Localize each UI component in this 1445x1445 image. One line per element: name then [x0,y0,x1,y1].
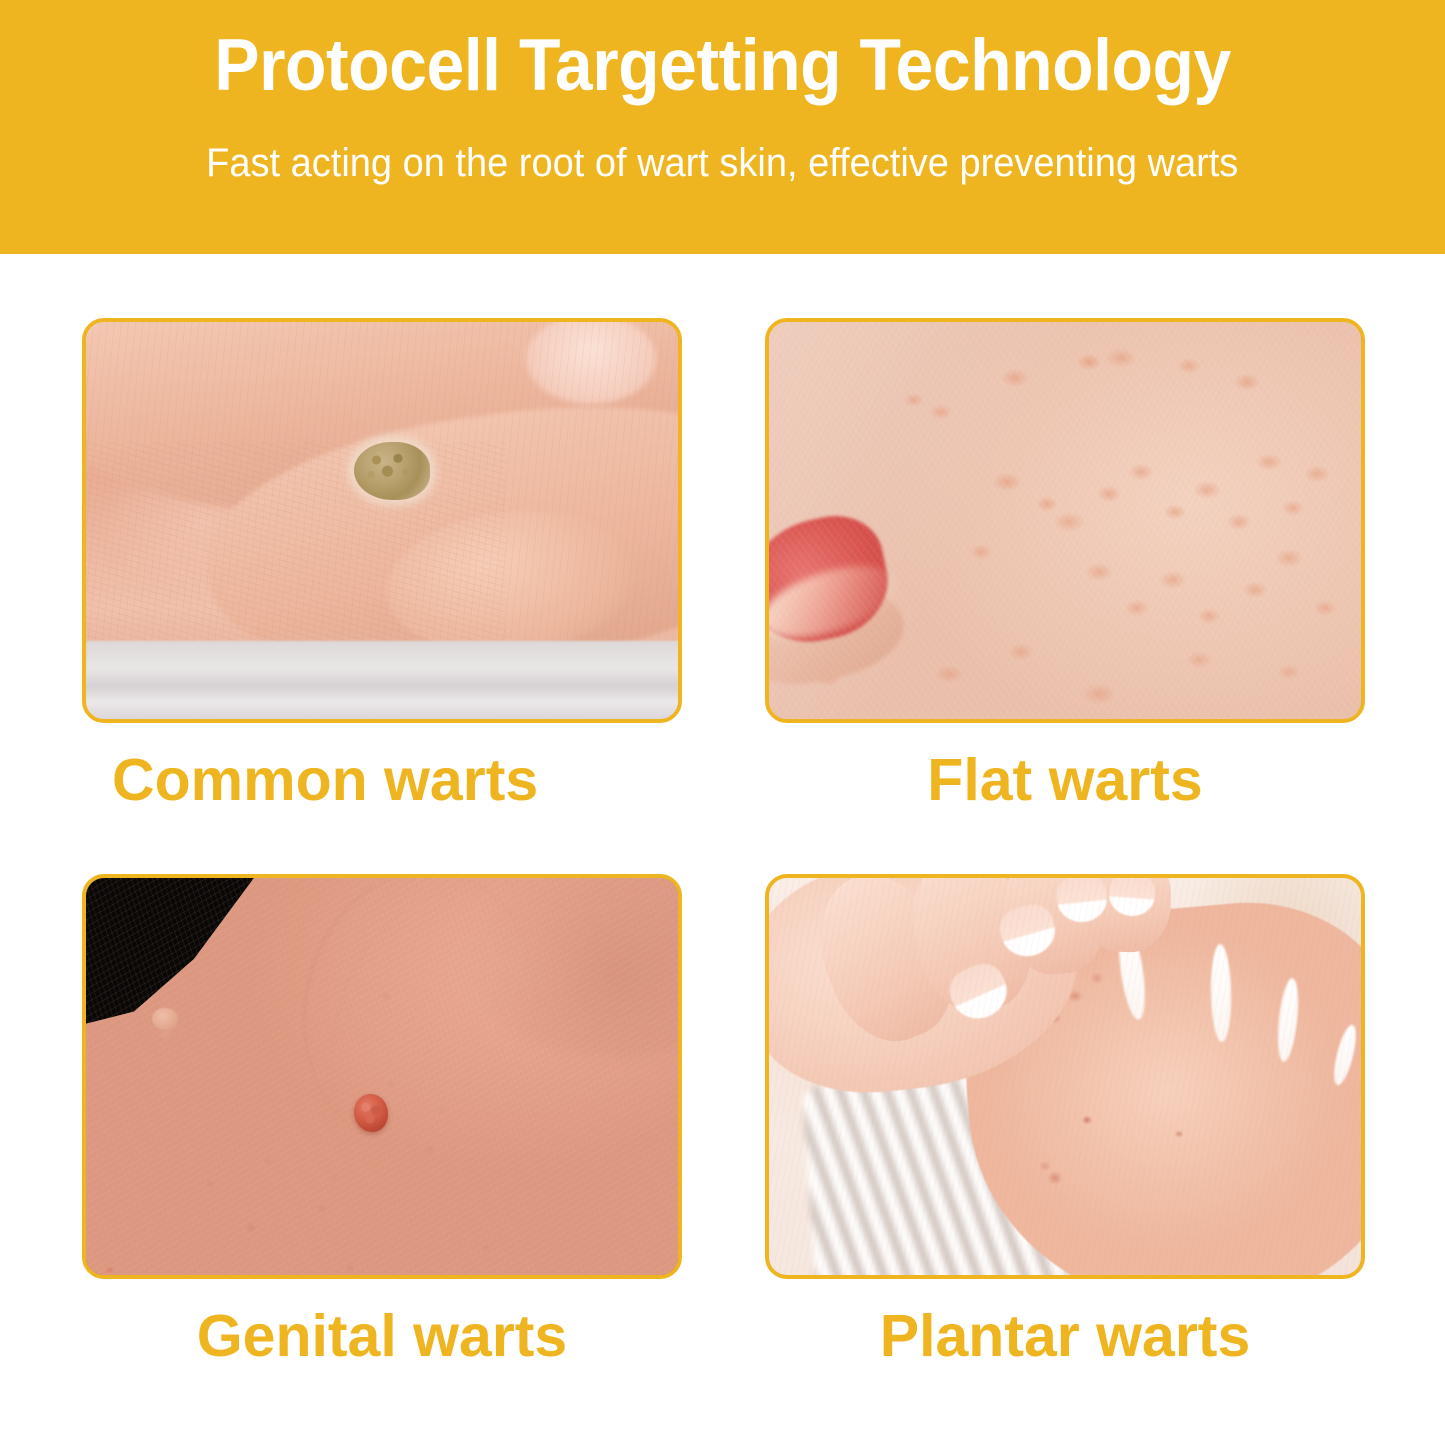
wart-type-card-genital[interactable]: Genital warts [82,874,682,1366]
photo-frame-genital-warts [82,874,682,1279]
skin-texture [769,322,1361,719]
wart-lesion [354,442,430,500]
photo-frame-flat-warts [765,318,1365,723]
wart-type-card-flat[interactable]: Flat warts [765,318,1365,810]
table-surface [86,641,678,719]
photo-frame-common-warts [82,318,682,723]
card-label-common-warts: Common warts [82,751,682,810]
card-label-flat-warts: Flat warts [765,751,1365,810]
wart-type-card-common[interactable]: Common warts [82,318,682,810]
photo-flat-warts [769,322,1361,719]
skin-texture [769,878,1361,1275]
photo-common-warts [86,322,678,719]
wart-type-grid: Common warts Flat warts [0,254,1445,1445]
skin-tag [152,1008,178,1030]
photo-frame-plantar-warts [765,874,1365,1279]
wart-type-card-plantar[interactable]: Plantar warts [765,874,1365,1366]
card-label-genital-warts: Genital warts [82,1307,682,1366]
photo-plantar-warts [769,878,1361,1275]
page-subtitle: Fast acting on the root of wart skin, ef… [206,141,1238,185]
photo-genital-warts [86,878,678,1275]
page-title: Protocell Targetting Technology [214,28,1231,105]
card-label-plantar-warts: Plantar warts [765,1307,1365,1366]
header-banner: Protocell Targetting Technology Fast act… [0,0,1445,254]
skin-texture [86,442,506,642]
skin-spots [86,878,678,1275]
wart-lesion [354,1094,388,1132]
